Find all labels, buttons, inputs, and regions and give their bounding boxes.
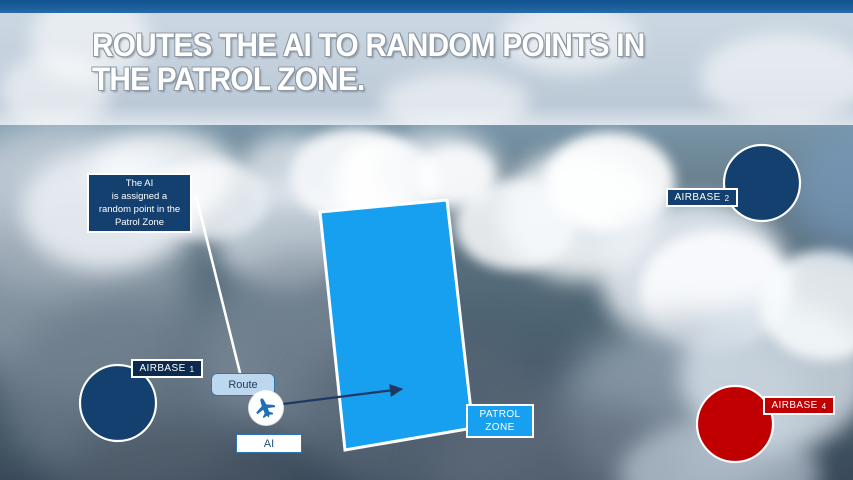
diagram-stage: The AI is assigned a random point in the… (0, 0, 853, 480)
route-label-text: Route (228, 379, 257, 391)
airbase-4-label-text: AIRBASE (771, 400, 817, 411)
airbase-2-number: 2 (725, 194, 730, 203)
airbase-4-number: 4 (822, 402, 827, 411)
ai-label-text: AI (264, 438, 274, 450)
airbase-2-circle[interactable] (724, 145, 800, 221)
ai-label[interactable]: AI (236, 434, 302, 453)
airbase-1-number: 1 (190, 365, 195, 374)
patrol-zone-label[interactable]: PATROL ZONE (466, 404, 534, 438)
airbase-4-label[interactable]: AIRBASE 4 (763, 396, 835, 415)
callout-leader-line (196, 196, 243, 385)
airbase-2-label-text: AIRBASE (674, 192, 720, 203)
ai-jet-badge[interactable] (249, 391, 283, 425)
slide-canvas: Routes the AI to random points in the pa… (0, 0, 853, 480)
patrol-zone-shape[interactable] (320, 200, 473, 450)
patrol-zone-label-line1: PATROL (480, 408, 521, 421)
airbase-1-label[interactable]: AIRBASE 1 (131, 359, 203, 378)
airbase-4-circle[interactable] (697, 386, 773, 462)
patrol-zone-label-line2: ZONE (485, 421, 514, 434)
shapes-overlay (0, 0, 853, 480)
airbase-2-label[interactable]: AIRBASE 2 (666, 188, 738, 207)
callout-box: The AI is assigned a random point in the… (87, 173, 192, 233)
airbase-1-label-text: AIRBASE (139, 363, 185, 374)
fighter-jet-icon (253, 395, 279, 421)
